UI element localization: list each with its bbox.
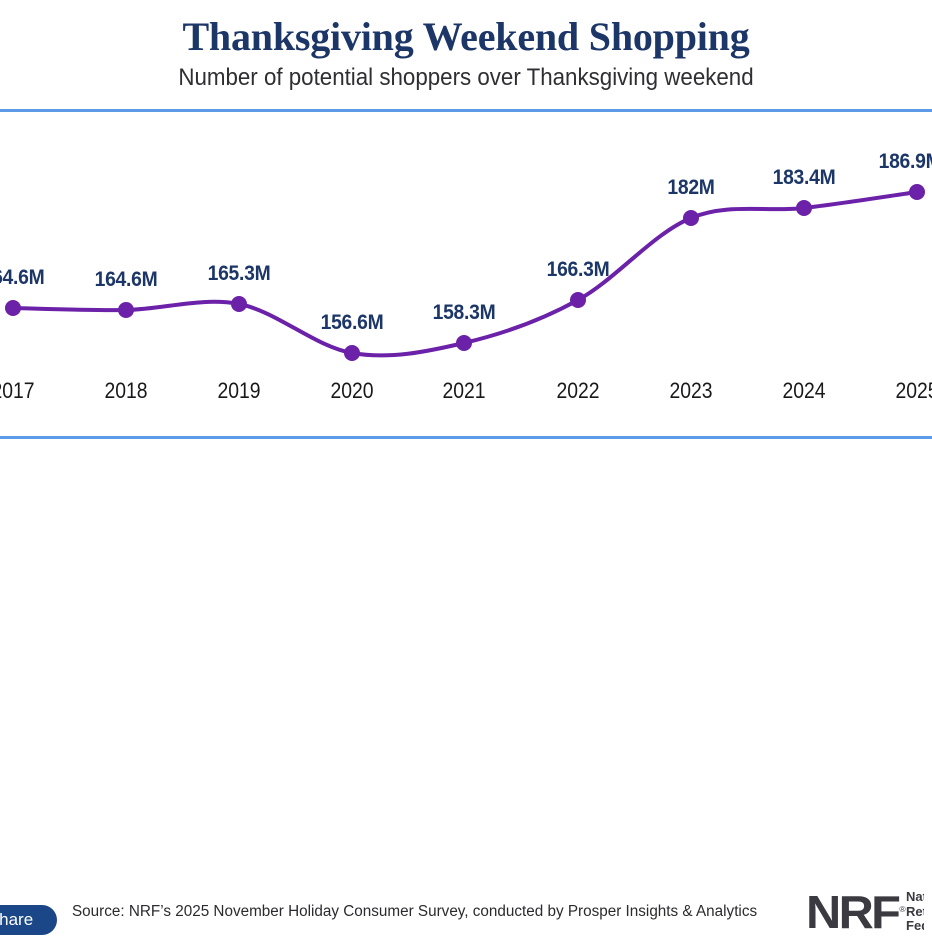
x-axis-label-2025: 2025 <box>895 378 932 404</box>
x-axis-label-2018: 2018 <box>104 378 147 404</box>
share-button[interactable]: Share <box>0 905 57 935</box>
data-point-2018[interactable] <box>118 302 134 318</box>
nrf-wordmark: NRF ® <box>806 889 898 935</box>
nrf-lockup-line-3: Federation <box>906 918 924 933</box>
line-chart-plot-area: 164.6M164.6M165.3M156.6M158.3M166.3M182M… <box>0 112 932 374</box>
x-axis-label-2019: 2019 <box>217 378 260 404</box>
value-label-2025: 186.9M <box>879 151 932 172</box>
value-label-2024: 183.4M <box>773 167 836 188</box>
nrf-logo[interactable]: NRF ® National Retail Federation <box>806 886 924 938</box>
value-label-2023: 182M <box>667 177 714 198</box>
x-axis-label-2021: 2021 <box>442 378 485 404</box>
x-axis-label-2024: 2024 <box>782 378 825 404</box>
value-label-2017: 164.6M <box>0 267 44 288</box>
page-title: Thanksgiving Weekend Shopping <box>0 0 932 60</box>
value-label-2019: 165.3M <box>208 263 271 284</box>
data-point-2024[interactable] <box>796 200 812 216</box>
data-point-2019[interactable] <box>231 296 247 312</box>
registered-trademark-icon: ® <box>899 887 905 933</box>
x-axis-label-2020: 2020 <box>330 378 373 404</box>
chart-footer: Share Source: NRF’s 2025 November Holida… <box>0 439 932 524</box>
data-point-2022[interactable] <box>570 292 586 308</box>
nrf-lockup-line-2: Retail <box>906 904 924 919</box>
data-point-2017[interactable] <box>5 300 21 316</box>
value-label-2020: 156.6M <box>321 312 384 333</box>
data-point-2020[interactable] <box>344 345 360 361</box>
x-axis-label-2022: 2022 <box>556 378 599 404</box>
x-axis-label-2023: 2023 <box>669 378 712 404</box>
data-point-2025[interactable] <box>909 184 925 200</box>
nrf-lockup: National Retail Federation <box>906 890 924 934</box>
x-axis-label-2017: 2017 <box>0 378 35 404</box>
value-label-2021: 158.3M <box>433 302 496 323</box>
line-chart-svg <box>0 112 932 374</box>
chart-header: Thanksgiving Weekend Shopping Number of … <box>0 0 932 110</box>
value-label-2018: 164.6M <box>95 269 158 290</box>
x-axis-tick-labels: 201720182019202020212022202320242025 <box>0 378 932 412</box>
nrf-wordmark-text: NRF <box>806 886 898 938</box>
nrf-lockup-line-1: National <box>906 890 924 904</box>
chart-subtitle: Number of potential shoppers over Thanks… <box>33 60 900 93</box>
data-point-2021[interactable] <box>456 335 472 351</box>
source-note: Source: NRF’s 2025 November Holiday Cons… <box>72 901 757 923</box>
value-label-2022: 166.3M <box>547 259 610 280</box>
data-point-2023[interactable] <box>683 210 699 226</box>
